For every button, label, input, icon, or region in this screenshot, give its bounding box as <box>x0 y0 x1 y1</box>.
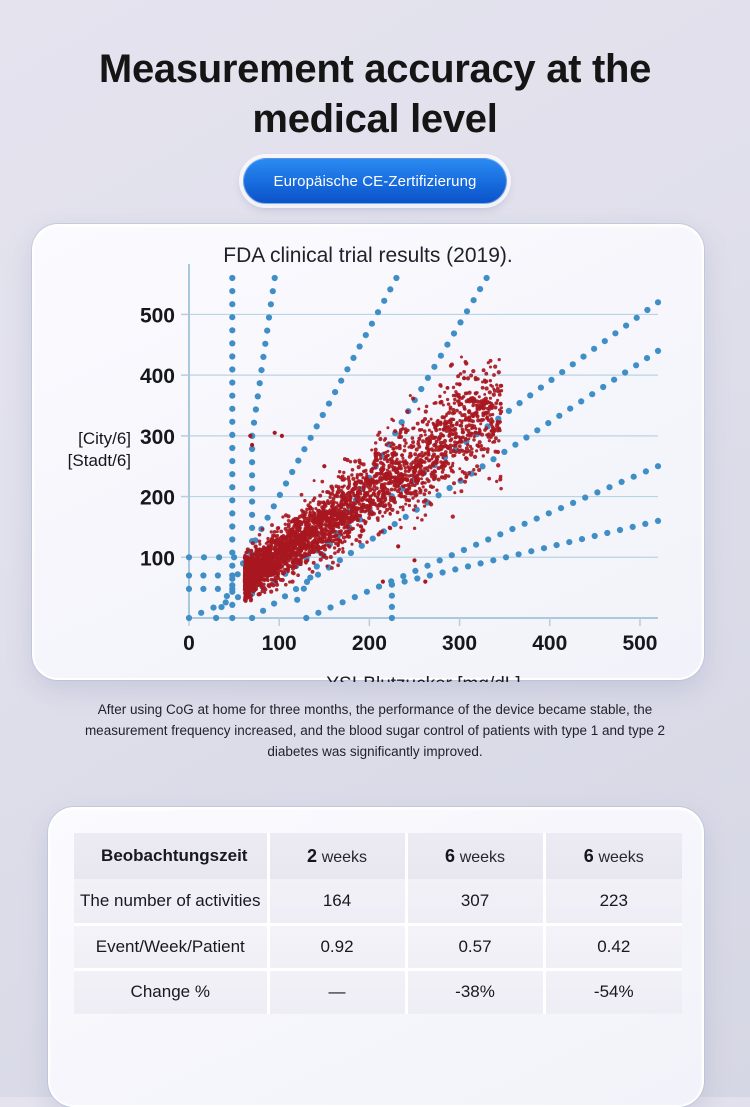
cell-change-col3: -54% <box>544 969 682 1014</box>
table-header-col-1: 2 weeks <box>268 833 406 879</box>
page-title: Measurement accuracy at the medical leve… <box>0 44 750 144</box>
chart-card: FDA clinical trial results (2019). 01002… <box>32 224 704 680</box>
cell-event-col2: 0.57 <box>406 924 544 969</box>
error-grid-scatter-plot: 0100200300400500100200300400500[City/6][… <box>34 226 702 678</box>
table-row: Event/Week/Patient 0.92 0.57 0.42 <box>74 924 682 969</box>
cell-event-col3: 0.42 <box>544 924 682 969</box>
xtick-label-0: 0 <box>183 632 195 655</box>
xtick-label-200: 200 <box>352 632 387 655</box>
ytick-label-500: 500 <box>140 304 175 327</box>
xtick-label-100: 100 <box>262 632 297 655</box>
xtick-label-500: 500 <box>622 632 657 655</box>
row-label-activities: The number of activities <box>74 879 268 924</box>
header-3-unit: weeks <box>598 849 643 866</box>
cell-change-col1: — <box>268 969 406 1014</box>
y-axis-title-line-1: [City/6] <box>78 429 131 448</box>
table-header-row: Beobachtungszeit 2 weeks 6 weeks 6 weeks <box>74 833 682 879</box>
row-label-event-week-patient: Event/Week/Patient <box>74 924 268 969</box>
header-2-number: 6 <box>445 846 455 866</box>
table-header-observation-period: Beobachtungszeit <box>74 833 268 879</box>
ytick-label-400: 400 <box>140 365 175 388</box>
xtick-label-300: 300 <box>442 632 477 655</box>
ce-badge-container: Europäische CE-Zertifizierung <box>0 158 750 204</box>
cell-activities-col1: 164 <box>268 879 406 924</box>
cell-change-col2: -38% <box>406 969 544 1014</box>
table-row: The number of activities 164 307 223 <box>74 879 682 924</box>
ytick-label-200: 200 <box>140 487 175 510</box>
row-label-change-pct: Change % <box>74 969 268 1014</box>
results-table: Beobachtungszeit 2 weeks 6 weeks 6 weeks <box>74 833 682 1014</box>
table-header-col-3: 6 weeks <box>544 833 682 879</box>
table-body: The number of activities 164 307 223 Eve… <box>74 879 682 1014</box>
cell-activities-col2: 307 <box>406 879 544 924</box>
x-axis-title: YSI-Blutzucker [mg/dL] <box>326 674 520 682</box>
cell-event-col1: 0.92 <box>268 924 406 969</box>
header-2-unit: weeks <box>460 849 505 866</box>
scatter-points <box>243 355 503 602</box>
page-root: Measurement accuracy at the medical leve… <box>0 0 750 1097</box>
scatter-svg: 0100200300400500100200300400500[City/6][… <box>34 226 706 682</box>
ytick-label-300: 300 <box>140 426 175 449</box>
table-head: Beobachtungszeit 2 weeks 6 weeks 6 weeks <box>74 833 682 879</box>
cell-activities-col3: 223 <box>544 879 682 924</box>
header-1-number: 2 <box>307 846 317 866</box>
chart-caption: After using CoG at home for three months… <box>0 700 750 763</box>
ce-certification-badge[interactable]: Europäische CE-Zertifizierung <box>243 158 508 204</box>
xtick-label-400: 400 <box>532 632 567 655</box>
header-1-unit: weeks <box>322 849 367 866</box>
table-header-col-2: 6 weeks <box>406 833 544 879</box>
table-row: Change % — -38% -54% <box>74 969 682 1014</box>
ytick-label-100: 100 <box>140 547 175 570</box>
header-3-number: 6 <box>584 846 594 866</box>
y-axis-title-line-2: [Stadt/6] <box>68 451 131 470</box>
results-table-card: Beobachtungszeit 2 weeks 6 weeks 6 weeks <box>48 807 704 1107</box>
